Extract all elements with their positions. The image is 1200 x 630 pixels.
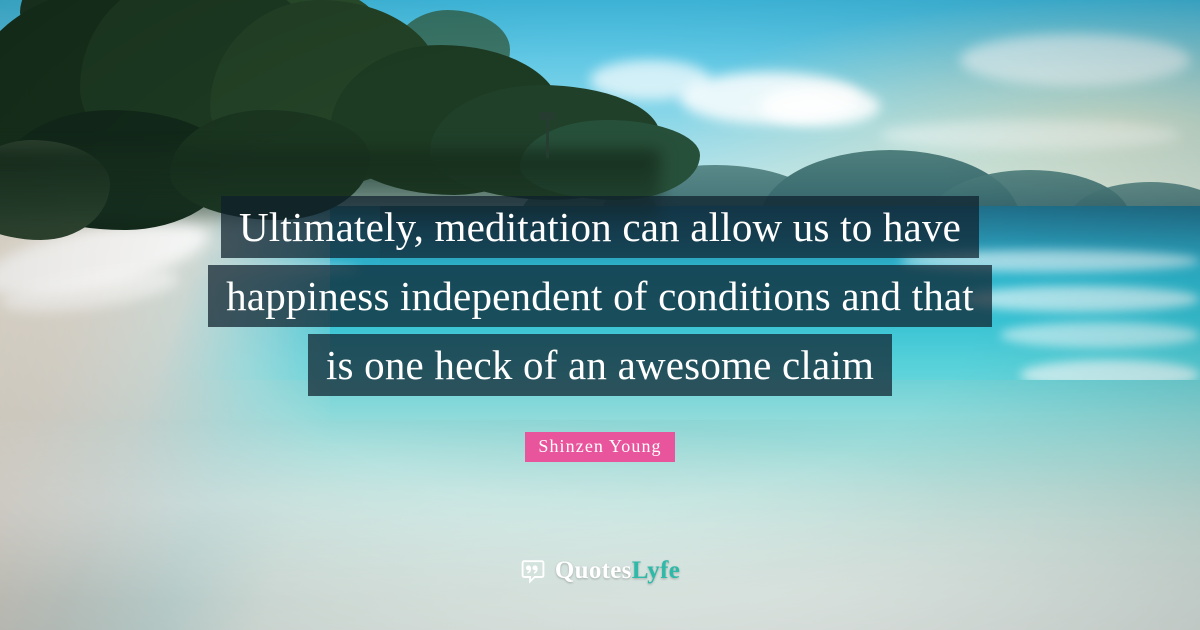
quote-line-row: is one heck of an awesome claim bbox=[0, 334, 1200, 396]
quote-line-1: Ultimately, meditation can allow us to h… bbox=[221, 196, 979, 258]
quote-line-row: happiness independent of conditions and … bbox=[0, 265, 1200, 327]
antenna-mast-top bbox=[540, 112, 555, 120]
quote-line-row: Ultimately, meditation can allow us to h… bbox=[0, 196, 1200, 258]
quote-lines: Ultimately, meditation can allow us to h… bbox=[0, 196, 1200, 396]
brand-name-part2: Lyfe bbox=[632, 557, 680, 584]
brand-name-part1: Quotes bbox=[555, 557, 632, 584]
brand-name: QuotesLyfe bbox=[555, 557, 680, 585]
quote-mark-icon bbox=[520, 558, 546, 584]
antenna-mast bbox=[546, 118, 549, 158]
quote-text-block: Ultimately, meditation can allow us to h… bbox=[0, 196, 1200, 403]
quote-line-3: is one heck of an awesome claim bbox=[308, 334, 892, 396]
cloud-shape bbox=[760, 86, 880, 126]
cloud-shape bbox=[960, 34, 1190, 86]
brand-watermark: QuotesLyfe bbox=[0, 557, 1200, 585]
author-badge: Shinzen Young bbox=[525, 432, 674, 462]
quote-image-canvas: Ultimately, meditation can allow us to h… bbox=[0, 0, 1200, 630]
author-container: Shinzen Young bbox=[0, 432, 1200, 462]
quote-line-2: happiness independent of conditions and … bbox=[208, 265, 992, 327]
cloud-shape bbox=[880, 120, 1180, 150]
